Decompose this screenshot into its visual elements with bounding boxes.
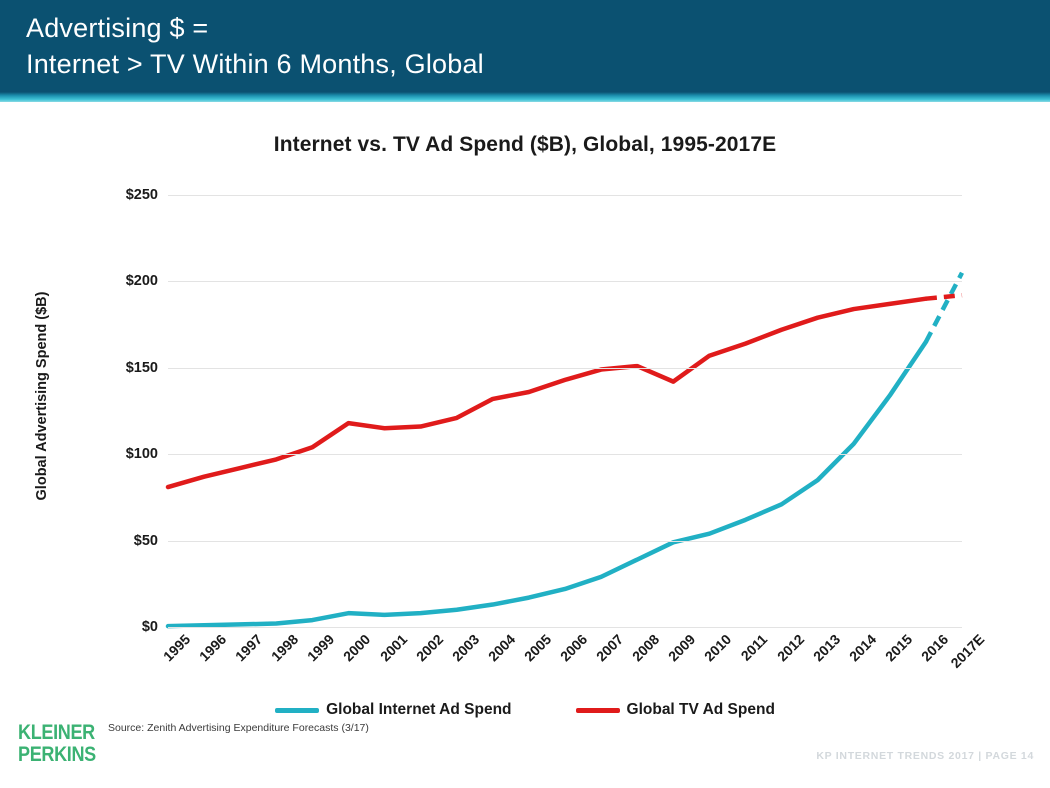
legend-item[interactable]: Global TV Ad Spend [576,701,775,719]
source-note: Source: Zenith Advertising Expenditure F… [108,722,369,734]
gridline [168,195,962,196]
logo-line-1: KLEINER [18,722,96,744]
gridline [168,281,962,282]
y-tick-label: $200 [88,273,158,289]
chart-legend: Global Internet Ad SpendGlobal TV Ad Spe… [0,701,1050,719]
x-axis-tick-labels: 1995199619971998199920002001200220032004… [168,631,962,701]
y-tick-label: $250 [88,187,158,203]
plot-canvas [168,195,962,627]
gridline [168,368,962,369]
gridline [168,541,962,542]
y-tick-label: $100 [88,446,158,462]
chart-area: Internet vs. TV Ad Spend ($B), Global, 1… [0,98,1050,698]
page-footer: KP INTERNET TRENDS 2017 | PAGE 14 [816,750,1034,762]
chart-title: Internet vs. TV Ad Spend ($B), Global, 1… [0,133,1050,157]
gridline [168,627,962,628]
y-tick-label: $50 [88,533,158,549]
series-lines [168,195,962,627]
series-line-forecast [926,295,962,298]
gridline [168,454,962,455]
slide-title-line-1: Advertising $ = [26,10,1050,46]
slide-title-line-2: Internet > TV Within 6 Months, Global [26,46,1050,82]
y-tick-label: $150 [88,360,158,376]
series-line-solid [168,299,926,487]
legend-swatch [576,708,620,713]
y-tick-label: $0 [88,619,158,635]
legend-item[interactable]: Global Internet Ad Spend [275,701,511,719]
legend-label: Global Internet Ad Spend [326,701,511,719]
logo-line-2: PERKINS [18,744,96,766]
slide-header: Advertising $ = Internet > TV Within 6 M… [0,0,1050,98]
series-line-forecast [926,273,962,342]
legend-label: Global TV Ad Spend [627,701,775,719]
legend-swatch [275,708,319,713]
y-axis-title: Global Advertising Spend ($B) [34,206,50,586]
y-axis-tick-labels: $250$200$150$100$50$0 [88,195,158,627]
kleiner-perkins-logo: KLEINER PERKINS [18,722,96,766]
